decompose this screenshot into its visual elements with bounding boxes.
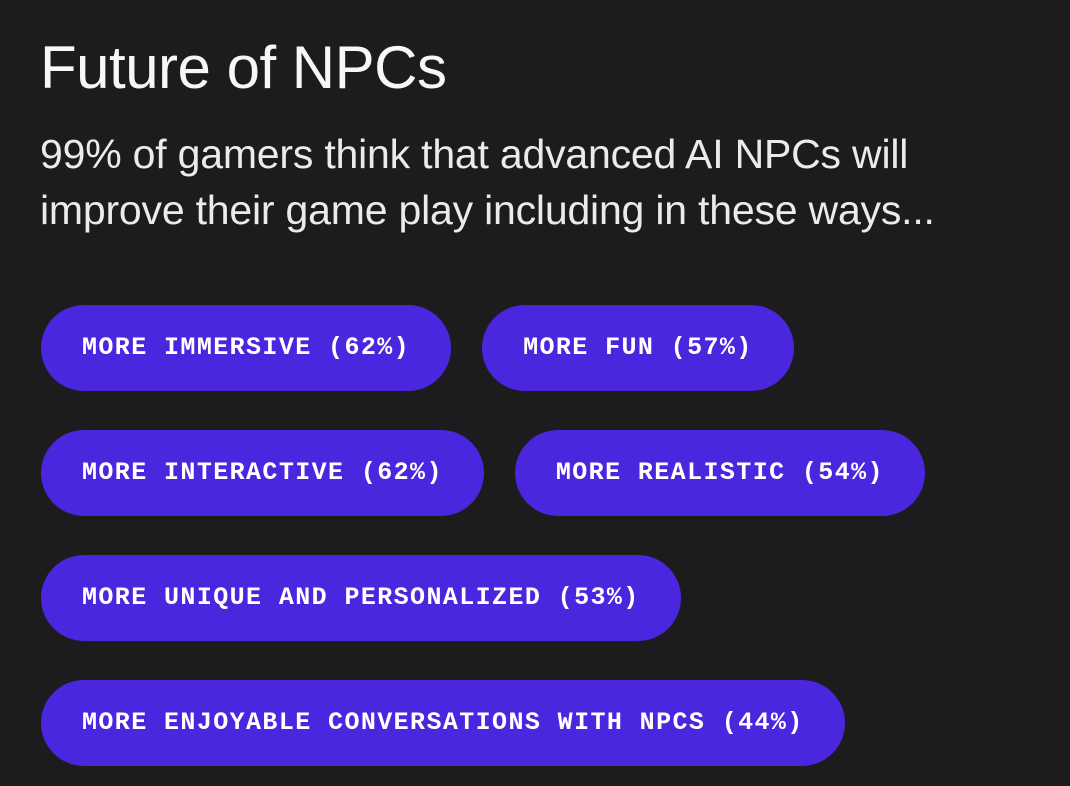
pill-row: MORE ENJOYABLE CONVERSATIONS WITH NPCS (… xyxy=(41,680,1050,766)
pill-group: MORE IMMERSIVE (62%) MORE FUN (57%) MORE… xyxy=(41,305,1050,766)
page-subtitle: 99% of gamers think that advanced AI NPC… xyxy=(40,101,1000,239)
pill-more-fun[interactable]: MORE FUN (57%) xyxy=(482,305,794,391)
pill-label: MORE INTERACTIVE (62%) xyxy=(82,460,443,485)
pill-label: MORE REALISTIC (54%) xyxy=(556,460,884,485)
pill-more-interactive[interactable]: MORE INTERACTIVE (62%) xyxy=(41,430,484,516)
page-title: Future of NPCs xyxy=(40,36,1030,101)
slide-root: Future of NPCs 99% of gamers think that … xyxy=(0,0,1070,786)
pill-row: MORE IMMERSIVE (62%) MORE FUN (57%) xyxy=(41,305,1050,391)
pill-label: MORE FUN (57%) xyxy=(523,335,753,360)
pill-label: MORE IMMERSIVE (62%) xyxy=(82,335,410,360)
pill-more-enjoyable-conversations-with-npcs[interactable]: MORE ENJOYABLE CONVERSATIONS WITH NPCS (… xyxy=(41,680,845,766)
heading-block: Future of NPCs 99% of gamers think that … xyxy=(40,36,1030,238)
pill-row: MORE UNIQUE AND PERSONALIZED (53%) xyxy=(41,555,1050,641)
pill-more-realistic[interactable]: MORE REALISTIC (54%) xyxy=(515,430,925,516)
pill-row: MORE INTERACTIVE (62%) MORE REALISTIC (5… xyxy=(41,430,1050,516)
pill-more-unique-and-personalized[interactable]: MORE UNIQUE AND PERSONALIZED (53%) xyxy=(41,555,681,641)
pill-more-immersive[interactable]: MORE IMMERSIVE (62%) xyxy=(41,305,451,391)
pill-label: MORE ENJOYABLE CONVERSATIONS WITH NPCS (… xyxy=(82,710,804,735)
pill-label: MORE UNIQUE AND PERSONALIZED (53%) xyxy=(82,585,640,610)
